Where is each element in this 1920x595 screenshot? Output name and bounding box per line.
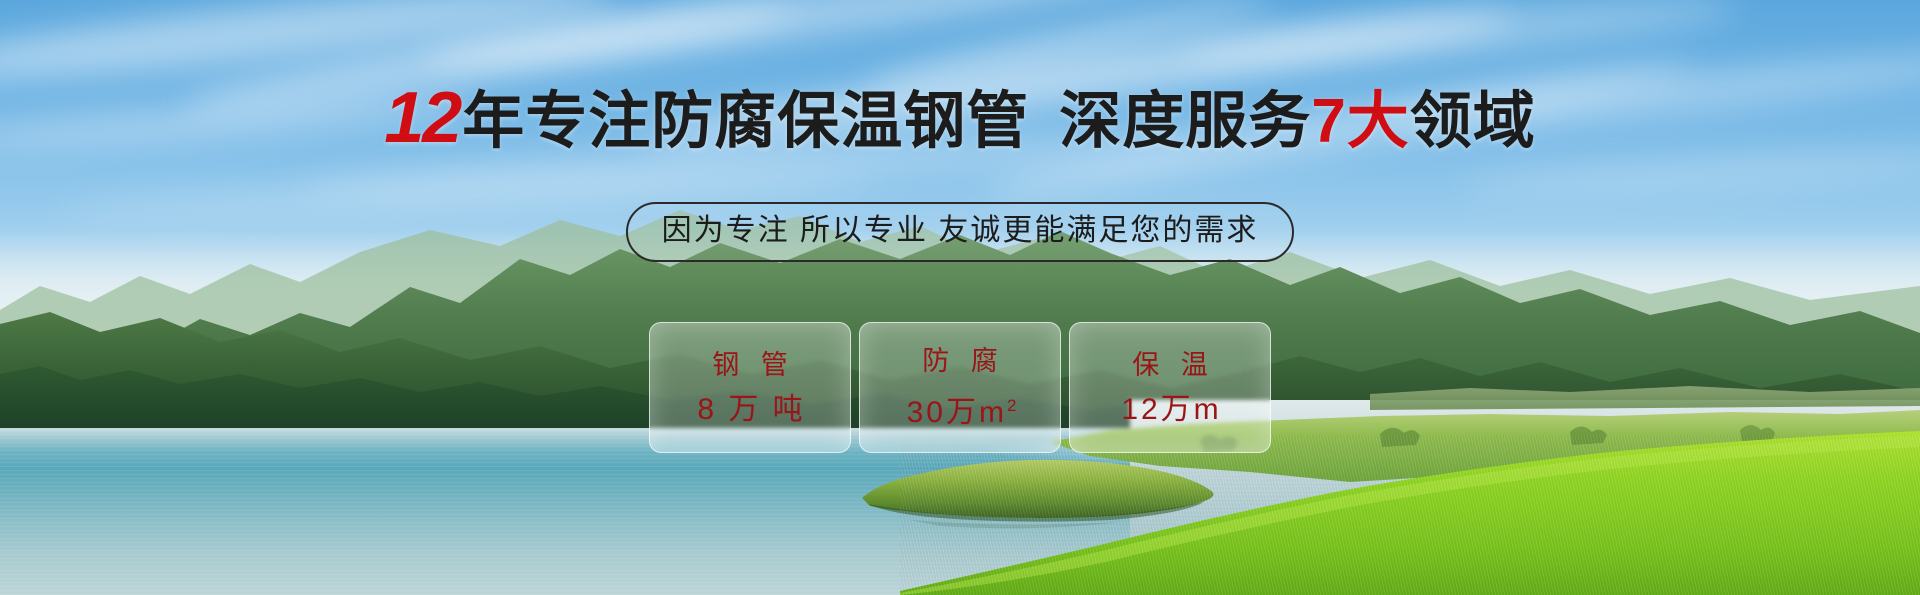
stat-card-anticorrosion[interactable]: 防 腐 30万m2 <box>859 322 1061 453</box>
stat-card-value-superscript: 2 <box>1007 396 1016 415</box>
headline-number: 12 <box>384 78 462 158</box>
subtitle-container: 因为专注 所以专业 友诚更能满足您的需求 <box>0 202 1920 262</box>
headline-segment-1: 年专注防腐保温钢管 <box>462 87 1029 156</box>
stat-card-label: 防 腐 <box>915 346 1005 376</box>
stat-card-value-text: 30万m <box>907 396 1007 429</box>
stat-card-value: 12万m <box>1118 394 1221 426</box>
stat-card-insulation[interactable]: 保 温 12万m <box>1069 322 1271 453</box>
headline-segment-2: 深度服务 <box>1059 87 1311 156</box>
hero-banner: 12年专注防腐保温钢管深度服务7大领域 因为专注 所以专业 友诚更能满足您的需求… <box>0 0 1920 595</box>
stat-card-steel-pipe[interactable]: 钢 管 8 万 吨 <box>649 322 851 453</box>
stat-card-label: 钢 管 <box>705 350 795 380</box>
stat-card-value-text: 8 万 吨 <box>697 393 805 426</box>
stat-card-label: 保 温 <box>1125 350 1215 380</box>
subtitle-pill: 因为专注 所以专业 友诚更能满足您的需求 <box>626 202 1295 262</box>
stat-card-group: 钢 管 8 万 吨 防 腐 30万m2 保 温 12万m <box>0 322 1920 453</box>
stat-card-value: 8 万 吨 <box>694 394 805 426</box>
stat-card-value-text: 12万m <box>1121 393 1221 426</box>
stat-card-value: 30万m2 <box>904 390 1017 429</box>
banner-content: 12年专注防腐保温钢管深度服务7大领域 因为专注 所以专业 友诚更能满足您的需求… <box>0 0 1920 595</box>
headline-highlight: 7大 <box>1311 87 1409 156</box>
headline: 12年专注防腐保温钢管深度服务7大领域 <box>0 86 1920 154</box>
headline-segment-3: 领域 <box>1410 87 1536 156</box>
